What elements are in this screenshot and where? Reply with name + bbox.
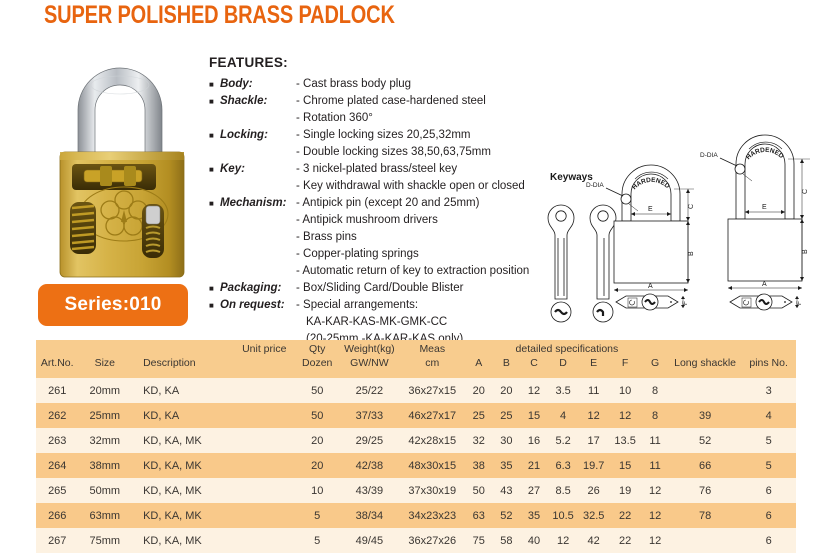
cell-G: 8 [641,378,669,403]
cell-size: 32mm [78,428,131,453]
bullet-square-icon: ■ [209,280,220,297]
feature-label: Mechanism: [220,195,296,212]
cell-weight: 49/45 [339,528,399,553]
header-blank-art [36,340,78,356]
cell-A: 25 [465,403,493,428]
cell-size: 63mm [78,503,131,528]
svg-text:D-DIA: D-DIA [586,182,604,189]
cell-E: 17 [578,428,609,453]
header-blank-desc [131,340,233,356]
cell-G: 8 [641,403,669,428]
header-art-no: Art.No. [36,356,78,378]
feature-row: ■Locking:- Double locking sizes 38,50,63… [209,144,529,161]
svg-text:A: A [648,283,653,290]
cell-D: 5.2 [548,428,579,453]
cell-weight: 29/25 [339,428,399,453]
cell-B: 30 [493,428,521,453]
cell-F: 22 [609,528,641,553]
cell-weight: 37/33 [339,403,399,428]
feature-row: ■Packaging:- Box/Sliding Card/Double Bli… [209,280,529,297]
svg-text:C: C [688,204,695,209]
cell-E: 42 [578,528,609,553]
cell-size: 20mm [78,378,131,403]
page-title: SUPER POLISHED BRASS PADLOCK [44,1,395,30]
cell-F: 10 [609,378,641,403]
cell-G: 12 [641,503,669,528]
cell-A: 50 [465,478,493,503]
cell-description: KD, KA, MK [131,478,233,503]
feature-label: Body: [220,76,296,93]
padlock-drawing-long: HARDENED D-DIA E C B A F [700,135,810,310]
table-header-row-top: Unit price Qty Weight(kg) Meas detailed … [36,340,796,356]
cell-qty: 20 [295,428,339,453]
cell-pins: 6 [741,528,796,553]
feature-row: ■On request:- Special arrangements: [209,297,529,314]
cell-description: KD, KA [131,378,233,403]
cell-unit-price [233,453,295,478]
cell-D: 8.5 [548,478,579,503]
cell-A: 63 [465,503,493,528]
feature-row: ■Mechanism:- Antipick mushroom drivers [209,212,529,229]
feature-value: KA-KAR-KAS-MK-GMK-CC [296,314,447,331]
svg-text:F: F [796,301,803,305]
header-meas: Meas [400,340,465,356]
cell-long-shackle: 76 [669,478,741,503]
cell-art-no: 267 [36,528,78,553]
cell-art-no: 261 [36,378,78,403]
cell-pins: 6 [741,503,796,528]
table-body: 26120mmKD, KA5025/2236x27x152020123.5111… [36,378,796,553]
bullet-square-icon: ■ [209,195,220,212]
cell-B: 58 [493,528,521,553]
feature-value: - Chrome plated case-hardened steel [296,93,486,110]
feature-label: Packaging: [220,280,296,297]
feature-row: ■Mechanism:- Brass pins [209,229,529,246]
cell-E: 26 [578,478,609,503]
header-weight: Weight(kg) [339,340,399,356]
feature-label: Shackle: [220,93,296,110]
cell-unit-price [233,428,295,453]
header-unit-price-blank [233,356,295,378]
cell-B: 20 [493,378,521,403]
cell-pins: 5 [741,428,796,453]
cell-long-shackle: 39 [669,403,741,428]
feature-value: - Double locking sizes 38,50,63,75mm [296,144,491,161]
feature-row: ■Locking:- Single locking sizes 20,25,32… [209,127,529,144]
cell-A: 38 [465,453,493,478]
header-spec-b: B [493,356,521,378]
table-row: 26438mmKD, KA, MK2042/3848x30x153835216.… [36,453,796,478]
header-unit-price: Unit price [233,340,295,356]
table-header-row-bottom: Art.No. Size Description Dozen GW/NW cm … [36,356,796,378]
feature-row: ■Key:- 3 nickel-plated brass/steel key [209,161,529,178]
svg-text:C: C [802,189,809,194]
cell-G: 11 [641,428,669,453]
table-head: Unit price Qty Weight(kg) Meas detailed … [36,340,796,378]
cell-long-shackle: 78 [669,503,741,528]
feature-value: - Special arrangements: [296,297,418,314]
cell-A: 75 [465,528,493,553]
cell-weight: 38/34 [339,503,399,528]
cell-description: KD, KA, MK [131,453,233,478]
cell-C: 27 [520,478,548,503]
cell-qty: 50 [295,378,339,403]
cell-G: 12 [641,528,669,553]
cell-art-no: 264 [36,453,78,478]
cell-C: 16 [520,428,548,453]
feature-label: On request: [220,297,296,314]
cell-F: 12 [609,403,641,428]
technical-drawings: Keyways HARDENED D-DIA E C B [528,116,834,331]
cell-D: 4 [548,403,579,428]
cell-size: 50mm [78,478,131,503]
header-meas-cm: cm [400,356,465,378]
table-row: 26663mmKD, KA, MK538/3434x23x2363523510.… [36,503,796,528]
cell-C: 35 [520,503,548,528]
bullet-square-icon: ■ [209,127,220,144]
feature-value: - Brass pins [296,229,357,246]
cell-B: 35 [493,453,521,478]
cell-description: KD, KA, MK [131,428,233,453]
feature-value: - Antipick mushroom drivers [296,212,438,229]
cell-D: 12 [548,528,579,553]
cell-C: 40 [520,528,548,553]
cell-B: 43 [493,478,521,503]
cell-meas: 42x28x15 [400,428,465,453]
svg-text:B: B [688,251,695,256]
svg-text:D-DIA: D-DIA [700,152,718,159]
cell-weight: 42/38 [339,453,399,478]
feature-value: - Single locking sizes 20,25,32mm [296,127,471,144]
cell-F: 22 [609,503,641,528]
feature-row: ■Mechanism:- Copper-plating springs [209,246,529,263]
cell-B: 52 [493,503,521,528]
cell-long-shackle [669,528,741,553]
table-row: 26550mmKD, KA, MK1043/3937x30x195043278.… [36,478,796,503]
feature-row: ■Shackle:- Chrome plated case-hardened s… [209,93,529,110]
cell-long-shackle [669,378,741,403]
cell-F: 15 [609,453,641,478]
feature-label: Locking: [220,127,296,144]
feature-subrow: ■KA-KAR-KAS-MK-GMK-CC [209,314,529,331]
cell-D: 10.5 [548,503,579,528]
cell-meas: 48x30x15 [400,453,465,478]
cell-C: 21 [520,453,548,478]
cell-meas: 36x27x15 [400,378,465,403]
cell-meas: 36x27x26 [400,528,465,553]
table-row: 26120mmKD, KA5025/2236x27x152020123.5111… [36,378,796,403]
feature-row: ■Body:- Cast brass body plug [209,76,529,93]
cell-long-shackle: 66 [669,453,741,478]
feature-value: - Automatic return of key to extraction … [296,263,529,280]
header-pins-no: pins No. [741,356,796,378]
cell-art-no: 266 [36,503,78,528]
cell-E: 32.5 [578,503,609,528]
cell-unit-price [233,503,295,528]
features-heading: FEATURES: [209,55,529,70]
bullet-square-icon: ■ [209,76,220,93]
cell-G: 12 [641,478,669,503]
feature-row: ■Mechanism:- Automatic return of key to … [209,263,529,280]
cell-F: 13.5 [609,428,641,453]
feature-value: - Antipick pin (except 20 and 25mm) [296,195,479,212]
cell-description: KD, KA, MK [131,503,233,528]
feature-value: - 3 nickel-plated brass/steel key [296,161,457,178]
header-blank-size [78,340,131,356]
cell-unit-price [233,403,295,428]
cell-F: 19 [609,478,641,503]
cell-size: 25mm [78,403,131,428]
feature-row: ■Mechanism:- Antipick pin (except 20 and… [209,195,529,212]
feature-row: ■Key:- Key withdrawal with shackle open … [209,178,529,195]
cell-C: 12 [520,378,548,403]
cell-art-no: 262 [36,403,78,428]
svg-text:E: E [648,206,653,213]
cell-size: 75mm [78,528,131,553]
cell-qty: 10 [295,478,339,503]
feature-value: - Key withdrawal with shackle open or cl… [296,178,525,195]
cell-qty: 50 [295,403,339,428]
features-block: FEATURES: ■Body:- Cast brass body plug■S… [209,55,529,348]
svg-text:A: A [762,281,767,288]
cell-qty: 5 [295,528,339,553]
cell-pins: 4 [741,403,796,428]
cell-D: 3.5 [548,378,579,403]
header-spec-c: C [520,356,548,378]
cell-qty: 5 [295,503,339,528]
cell-pins: 6 [741,478,796,503]
header-spec-a: A [465,356,493,378]
cell-B: 25 [493,403,521,428]
series-badge: Series:010 [38,284,188,326]
cell-C: 15 [520,403,548,428]
cell-size: 38mm [78,453,131,478]
product-photo [42,52,202,280]
cell-E: 11 [578,378,609,403]
cell-weight: 43/39 [339,478,399,503]
cell-E: 19.7 [578,453,609,478]
header-spec-d: D [548,356,579,378]
specifications-table: Unit price Qty Weight(kg) Meas detailed … [36,340,796,553]
cell-A: 20 [465,378,493,403]
svg-text:E: E [762,204,767,211]
cell-G: 11 [641,453,669,478]
cell-meas: 34x23x23 [400,503,465,528]
header-qty: Qty [295,340,339,356]
bullet-square-icon: ■ [209,297,220,314]
header-description: Description [131,356,233,378]
cell-art-no: 263 [36,428,78,453]
header-size: Size [78,356,131,378]
table-row: 26332mmKD, KA, MK2029/2542x28x153230165.… [36,428,796,453]
cell-description: KD, KA, MK [131,528,233,553]
bullet-square-icon: ■ [209,161,220,178]
header-long-shackle: Long shackle [669,356,741,378]
cell-meas: 37x30x19 [400,478,465,503]
feature-label: Key: [220,161,296,178]
table-row: 26225mmKD, KA5037/3346x27x17252515412128… [36,403,796,428]
cell-description: KD, KA [131,403,233,428]
header-blank-pins [741,340,796,356]
cell-meas: 46x27x17 [400,403,465,428]
svg-text:F: F [682,301,689,305]
cell-D: 6.3 [548,453,579,478]
cell-A: 32 [465,428,493,453]
cell-weight: 25/22 [339,378,399,403]
header-spec-e: E [578,356,609,378]
bullet-square-icon: ■ [209,93,220,110]
series-badge-label: Series:010 [64,294,161,316]
feature-value: - Copper-plating springs [296,246,419,263]
feature-value: - Cast brass body plug [296,76,411,93]
features-list: ■Body:- Cast brass body plug■Shackle:- C… [209,76,529,348]
cell-qty: 20 [295,453,339,478]
cell-pins: 5 [741,453,796,478]
header-spec-g: G [641,356,669,378]
feature-row: ■Shackle:- Rotation 360° [209,110,529,127]
cell-pins: 3 [741,378,796,403]
cell-long-shackle: 52 [669,428,741,453]
cell-unit-price [233,478,295,503]
cell-E: 12 [578,403,609,428]
feature-value: - Rotation 360° [296,110,373,127]
cell-unit-price [233,528,295,553]
cell-art-no: 265 [36,478,78,503]
header-weight-gwnw: GW/NW [339,356,399,378]
svg-text:B: B [802,249,809,254]
header-detailed-specifications: detailed specifications [465,340,669,356]
header-blank-long [669,340,741,356]
table-row: 26775mmKD, KA, MK549/4536x27x26755840124… [36,528,796,553]
feature-value: - Box/Sliding Card/Double Blister [296,280,463,297]
cell-unit-price [233,378,295,403]
header-qty-dozen: Dozen [295,356,339,378]
header-spec-f: F [609,356,641,378]
